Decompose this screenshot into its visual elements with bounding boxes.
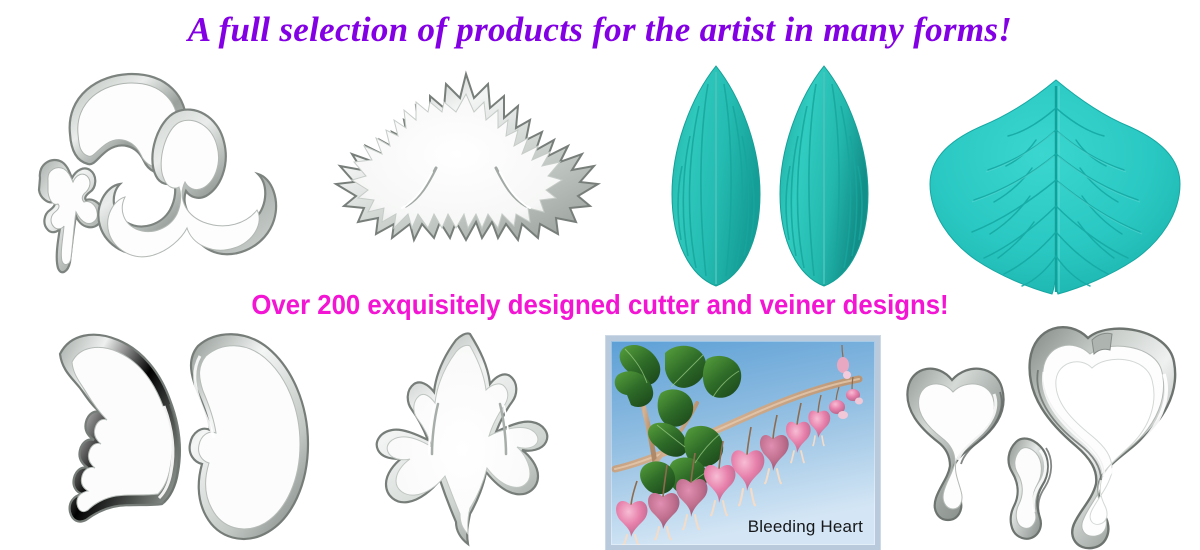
cutter-large [1030,327,1176,548]
subtitle: Over 200 exquisitely designed cutter and… [48,288,1152,322]
bleeding-heart-photo: Bleeding Heart [606,336,880,550]
page-title: A full selection of products for the art… [0,8,1200,52]
cutter-inner [387,345,538,534]
product-bleeding-heart-cutters [894,324,1194,550]
cutter-small [1009,439,1052,539]
product-petal-veiner-pair [672,62,868,292]
photo-caption: Bleeding Heart [748,517,863,537]
product-maple-leaf-cutter [332,72,600,284]
product-leaf-veiner-large [928,78,1184,300]
cutter-medium [907,369,1003,520]
cutter-inner [48,168,97,265]
product-orchid-cutter-set [28,66,278,281]
product-flame-petal-cutter [372,332,564,548]
product-butterfly-wing-cutters [30,326,320,548]
veiner-right [780,66,868,286]
banner-canvas: A full selection of products for the art… [0,0,1200,550]
veiner-left [672,66,760,286]
